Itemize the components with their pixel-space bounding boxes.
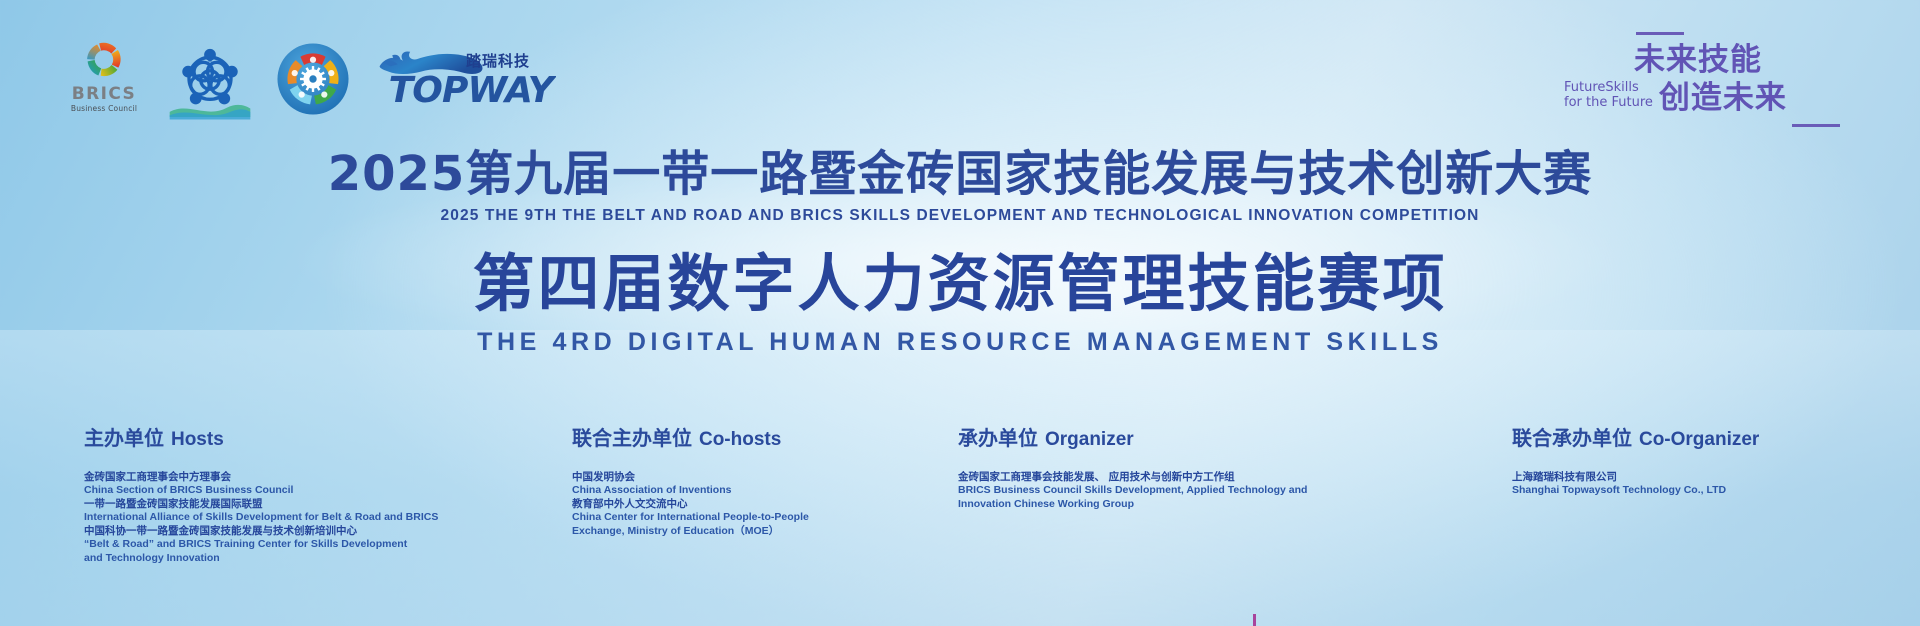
organizer-line: 中国发明协会 <box>572 471 872 484</box>
organizer-line: Shanghai Topwaysoft Technology Co., LTD <box>1512 484 1872 497</box>
organizer-heading-en: Hosts <box>171 429 224 450</box>
organizer-line: China Association of Inventions <box>572 484 872 497</box>
title-block: 2025第九届一带一路暨金砖国家技能发展与技术创新大赛 2025 THE 9TH… <box>0 150 1920 357</box>
future-skills-slogan: 未来技能 FutureSkills for the Future 创造未来 <box>1564 32 1864 127</box>
organizer-line: China Center for International People-to… <box>572 511 872 524</box>
slogan-rule-bottom <box>1792 124 1840 127</box>
slogan-en: FutureSkills for the Future <box>1564 80 1653 114</box>
organizer-column-hosts: 主办单位 Hosts 金砖国家工商理事会中方理事会 China Section … <box>84 428 514 565</box>
organizer-line: China Section of BRICS Business Council <box>84 484 514 497</box>
alliance-network-circle-icon <box>168 38 252 122</box>
organizer-line: and Technology Innovation <box>84 552 514 565</box>
svg-text:TOPWAY: TOPWAY <box>389 70 556 108</box>
slogan-cn-line1: 未来技能 <box>1634 45 1864 76</box>
organizer-column-coorganizer: 联合承办单位 Co-Organizer 上海踏瑞科技有限公司 Shanghai … <box>1512 428 1872 498</box>
organizer-line: International Alliance of Skills Develop… <box>84 511 514 524</box>
organizer-heading: 主办单位 Hosts <box>84 428 514 449</box>
competition-title-en: 2025 THE 9TH THE BELT AND ROAD AND BRICS… <box>0 207 1920 225</box>
organizer-column-organizer: 承办单位 Organizer 金砖国家工商理事会技能发展、 应用技术与创新中方工… <box>958 428 1388 511</box>
organizer-line: BRICS Business Council Skills Developmen… <box>958 484 1388 497</box>
competition-title-cn: 2025第九届一带一路暨金砖国家技能发展与技术创新大赛 <box>0 150 1920 200</box>
event-title-en: THE 4RD DIGITAL HUMAN RESOURCE MANAGEMEN… <box>0 328 1920 357</box>
bottom-accent-tick <box>1253 614 1256 626</box>
gear-star-circle-icon <box>276 42 350 116</box>
slogan-rule-top <box>1636 32 1684 35</box>
brics-wordmark: BRICS <box>68 86 140 103</box>
slogan-en-line2: for the Future <box>1564 95 1653 110</box>
logo-row: BRICS Business Council <box>68 38 556 124</box>
topway-logo: TOPWAY 踏瑞科技 <box>376 46 556 114</box>
organizers-section: 主办单位 Hosts 金砖国家工商理事会中方理事会 China Section … <box>0 428 1920 588</box>
organizer-heading-cn: 联合承办单位 <box>1512 426 1632 450</box>
organizer-line: 金砖国家工商理事会中方理事会 <box>84 471 514 484</box>
organizer-line: 上海踏瑞科技有限公司 <box>1512 471 1872 484</box>
organizer-line: 教育部中外人文交流中心 <box>572 498 872 511</box>
organizer-heading-cn: 主办单位 <box>84 426 164 450</box>
organizer-line: Exchange, Ministry of Education（MOE） <box>572 525 872 538</box>
organizer-column-cohosts: 联合主办单位 Co-hosts 中国发明协会 China Association… <box>572 428 872 538</box>
organizer-heading-en: Organizer <box>1045 429 1134 450</box>
organizer-heading-cn: 承办单位 <box>958 426 1038 450</box>
organizer-line: 中国科协一带一路暨金砖国家技能发展与技术创新培训中心 <box>84 525 514 538</box>
organizer-line: Innovation Chinese Working Group <box>958 498 1388 511</box>
event-title-cn: 第四届数字人力资源管理技能赛项 <box>0 251 1920 318</box>
brics-subtitle: Business Council <box>68 105 140 113</box>
brics-star-icon <box>80 38 128 82</box>
organizer-line: “Belt & Road” and BRICS Training Center … <box>84 538 514 551</box>
slogan-cn-line2: 创造未来 <box>1659 83 1787 114</box>
organizer-heading: 联合承办单位 Co-Organizer <box>1512 428 1872 449</box>
brics-logo: BRICS Business Council <box>68 38 140 113</box>
organizer-heading-cn: 联合主办单位 <box>572 426 692 450</box>
organizer-line: 一带一路暨金砖国家技能发展国际联盟 <box>84 498 514 511</box>
slogan-en-line1: FutureSkills <box>1564 80 1653 95</box>
organizer-heading-en: Co-hosts <box>699 429 781 450</box>
organizer-heading: 承办单位 Organizer <box>958 428 1388 449</box>
organizer-heading: 联合主办单位 Co-hosts <box>572 428 872 449</box>
topway-chinese-label: 踏瑞科技 <box>466 50 530 71</box>
organizer-line: 金砖国家工商理事会技能发展、 应用技术与创新中方工作组 <box>958 471 1388 484</box>
organizer-heading-en: Co-Organizer <box>1639 429 1759 450</box>
